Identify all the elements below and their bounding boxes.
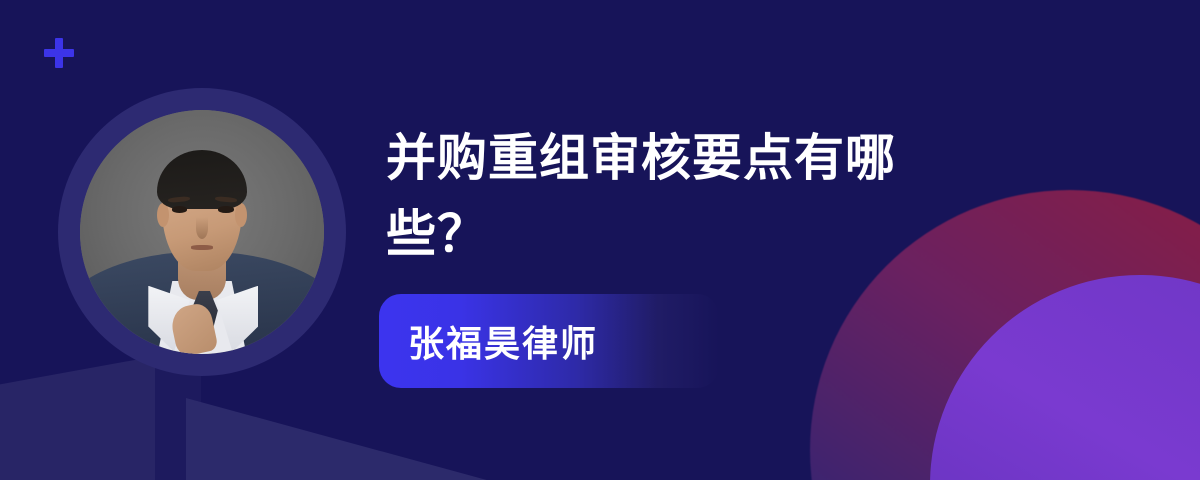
decor-triangle	[186, 398, 516, 480]
question-banner: 并购重组审核要点有哪 些？ 张福昊律师	[0, 0, 1200, 480]
portrait-mouth	[191, 245, 213, 249]
avatar-photo	[80, 110, 324, 354]
avatar	[58, 88, 346, 376]
content-block: 并购重组审核要点有哪 些？	[386, 120, 1086, 272]
plus-icon-bar-vertical	[55, 38, 63, 68]
author-name-label: 张福昊律师	[408, 315, 598, 367]
plus-icon	[44, 38, 74, 68]
portrait-eye-left	[172, 206, 188, 212]
portrait-eye-right	[218, 206, 234, 212]
page-title: 并购重组审核要点有哪 些？	[386, 120, 1086, 272]
author-button[interactable]: 张福昊律师	[379, 294, 719, 388]
